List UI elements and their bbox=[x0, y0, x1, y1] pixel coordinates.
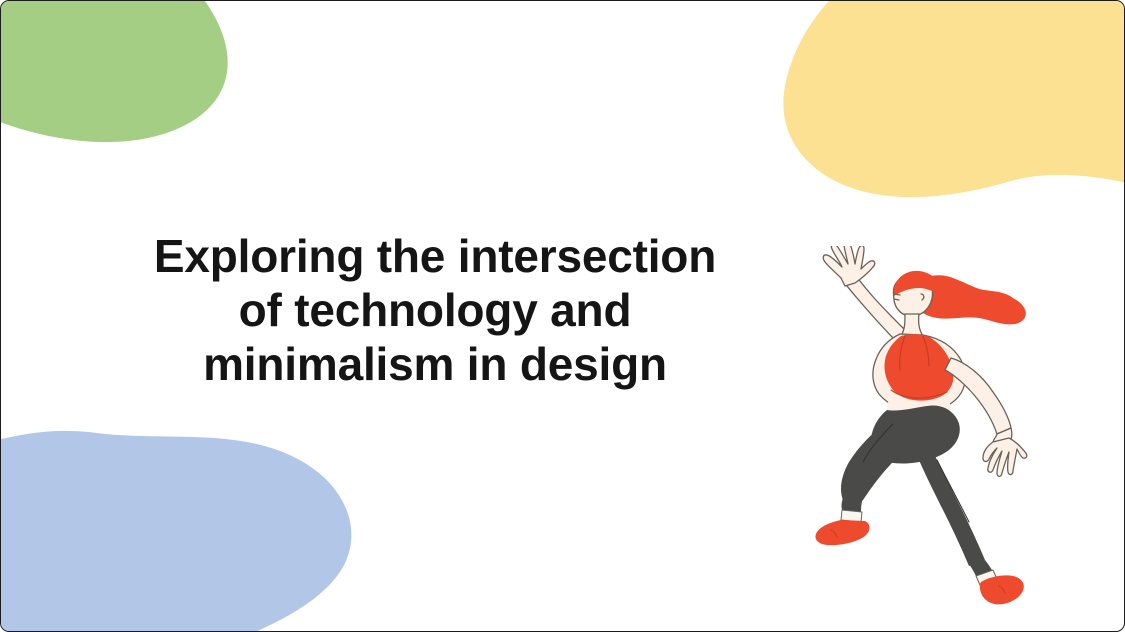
page-title: Exploring the intersection of technology… bbox=[89, 229, 781, 391]
slide-canvas: Exploring the intersection of technology… bbox=[0, 0, 1125, 632]
yellow-blob bbox=[783, 1, 1125, 197]
green-blob bbox=[1, 1, 228, 142]
headline-block: Exploring the intersection of technology… bbox=[89, 229, 781, 391]
running-woman-illustration bbox=[801, 246, 1049, 611]
blue-blob bbox=[1, 431, 351, 632]
